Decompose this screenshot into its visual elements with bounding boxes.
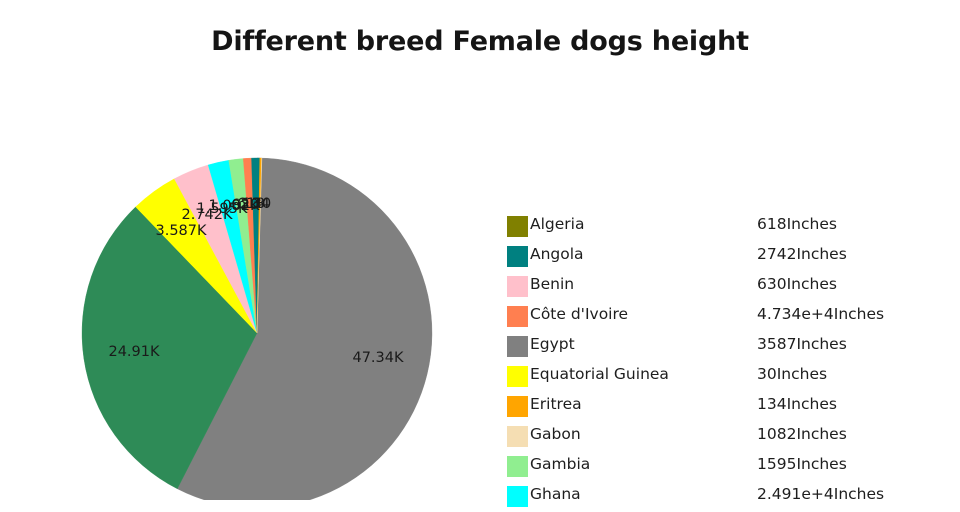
legend-item-label: Gambia bbox=[530, 455, 590, 473]
legend-item[interactable]: Egypt3587Inches bbox=[507, 332, 947, 362]
legend-color-swatch bbox=[507, 246, 528, 267]
legend-item-value: 1082Inches bbox=[757, 425, 847, 443]
legend-item-value: 1595Inches bbox=[757, 455, 847, 473]
legend-item-value: 4.734e+4Inches bbox=[757, 305, 884, 323]
chart-legend: Algeria618InchesAngola2742InchesBenin630… bbox=[507, 212, 947, 512]
legend-color-swatch bbox=[507, 396, 528, 417]
legend-item[interactable]: Gambia1595Inches bbox=[507, 452, 947, 482]
legend-item-label: Ghana bbox=[530, 485, 581, 503]
legend-item[interactable]: Angola2742Inches bbox=[507, 242, 947, 272]
legend-item-label: Algeria bbox=[530, 215, 584, 233]
legend-item[interactable]: Equatorial Guinea30Inches bbox=[507, 362, 947, 392]
legend-color-swatch bbox=[507, 456, 528, 477]
legend-item[interactable]: Algeria618Inches bbox=[507, 212, 947, 242]
legend-item-label: Egypt bbox=[530, 335, 575, 353]
legend-item-value: 3587Inches bbox=[757, 335, 847, 353]
pie-chart: 47.34K24.91K3.587K2.742K1.595K1.082K6306… bbox=[0, 0, 500, 500]
legend-color-swatch bbox=[507, 366, 528, 387]
legend-color-swatch bbox=[507, 426, 528, 447]
legend-color-swatch bbox=[507, 336, 528, 357]
legend-item-label: Angola bbox=[530, 245, 584, 263]
legend-item-value: 630Inches bbox=[757, 275, 837, 293]
pie-slices-svg bbox=[0, 0, 500, 500]
legend-item-value: 2742Inches bbox=[757, 245, 847, 263]
legend-item-value: 2.491e+4Inches bbox=[757, 485, 884, 503]
legend-item-label: Equatorial Guinea bbox=[530, 365, 669, 383]
legend-item-label: Côte d'Ivoire bbox=[530, 305, 628, 323]
legend-item[interactable]: Eritrea134Inches bbox=[507, 392, 947, 422]
legend-color-swatch bbox=[507, 216, 528, 237]
legend-item[interactable]: Ghana2.491e+4Inches bbox=[507, 482, 947, 512]
legend-item[interactable]: Côte d'Ivoire4.734e+4Inches bbox=[507, 302, 947, 332]
legend-color-swatch bbox=[507, 306, 528, 327]
legend-color-swatch bbox=[507, 486, 528, 507]
legend-color-swatch bbox=[507, 276, 528, 297]
legend-item-value: 30Inches bbox=[757, 365, 827, 383]
legend-item[interactable]: Benin630Inches bbox=[507, 272, 947, 302]
legend-item[interactable]: Gabon1082Inches bbox=[507, 422, 947, 452]
legend-item-label: Benin bbox=[530, 275, 574, 293]
legend-item-label: Gabon bbox=[530, 425, 581, 443]
legend-item-label: Eritrea bbox=[530, 395, 582, 413]
legend-item-value: 134Inches bbox=[757, 395, 837, 413]
legend-item-value: 618Inches bbox=[757, 215, 837, 233]
